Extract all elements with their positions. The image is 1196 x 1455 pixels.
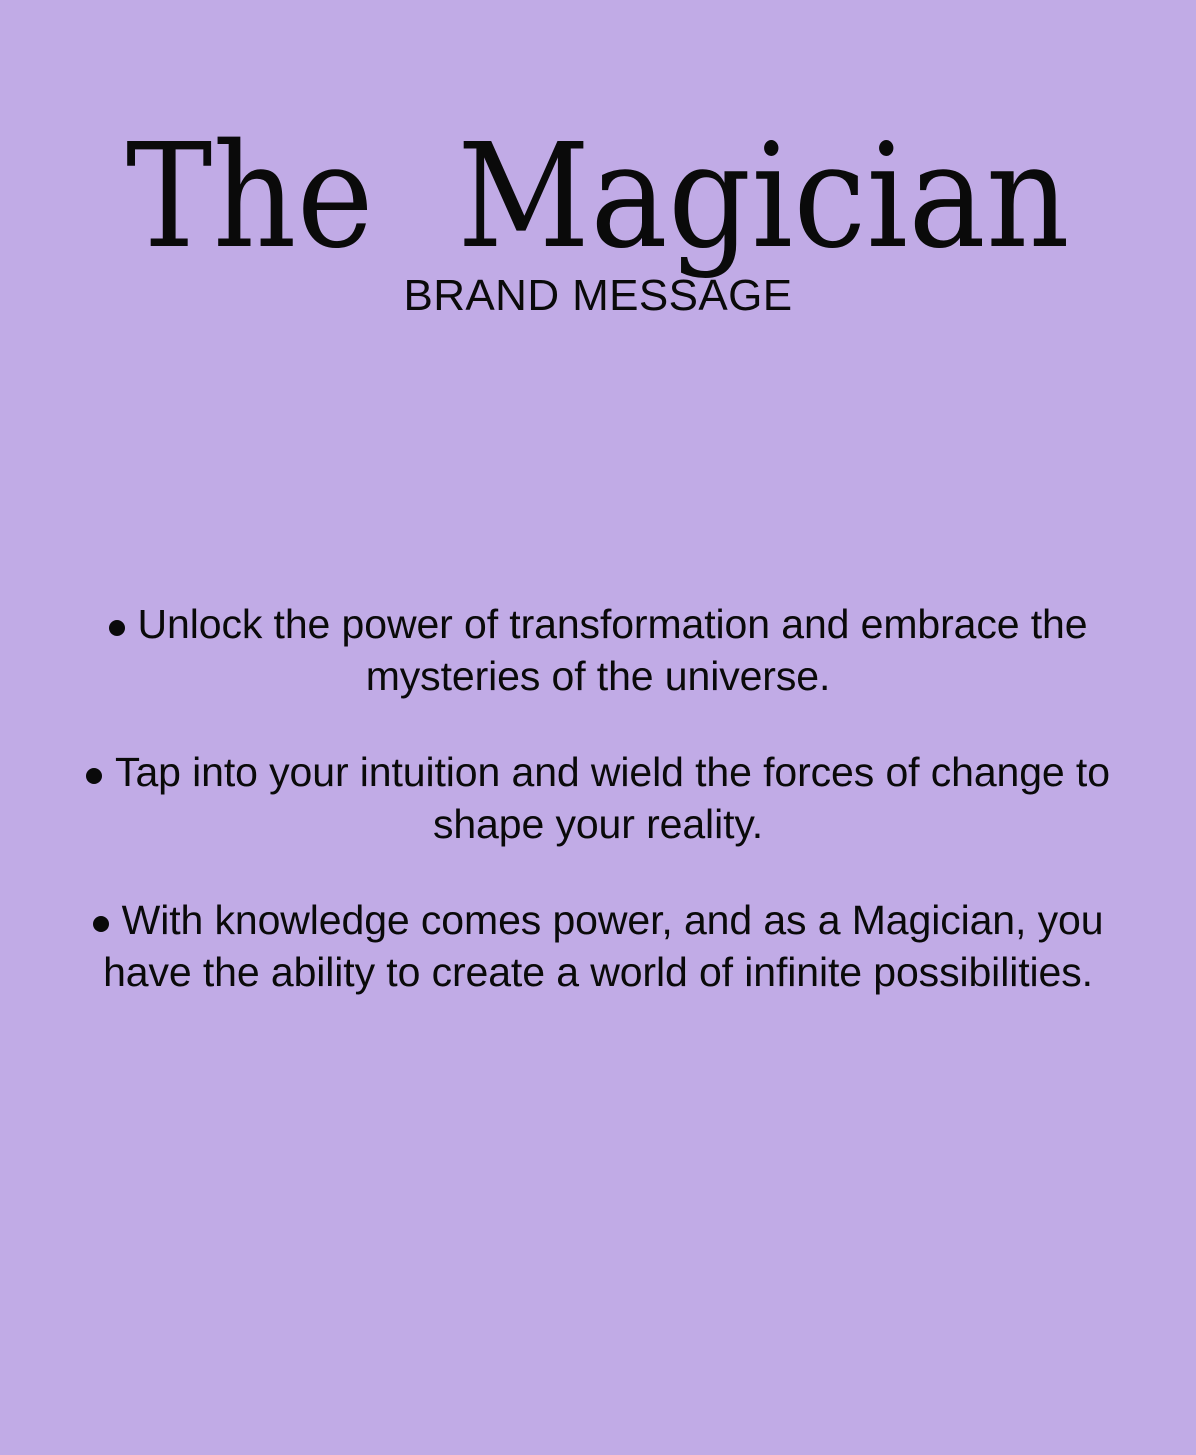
bullet-dot-icon: [109, 620, 125, 636]
bullet-dot-icon: [86, 768, 102, 784]
list-item-text: Tap into your intuition and wield the fo…: [115, 749, 1110, 847]
page-title: The Magician: [0, 124, 1196, 268]
card-footer: [0, 1335, 1196, 1455]
list-item-text: With knowledge comes power, and as a Mag…: [103, 897, 1103, 995]
brand-message-list: Unlock the power of transformation and e…: [78, 598, 1118, 998]
list-item: Unlock the power of transformation and e…: [78, 598, 1118, 702]
bullet-dot-icon: [93, 916, 109, 932]
section-label: BRAND MESSAGE: [0, 274, 1196, 318]
list-item: Tap into your intuition and wield the fo…: [78, 746, 1118, 850]
brand-message-card: The Magician BRAND MESSAGE Unlock the po…: [0, 0, 1196, 1455]
list-item-text: Unlock the power of transformation and e…: [138, 601, 1088, 699]
list-item: With knowledge comes power, and as a Mag…: [78, 894, 1118, 998]
